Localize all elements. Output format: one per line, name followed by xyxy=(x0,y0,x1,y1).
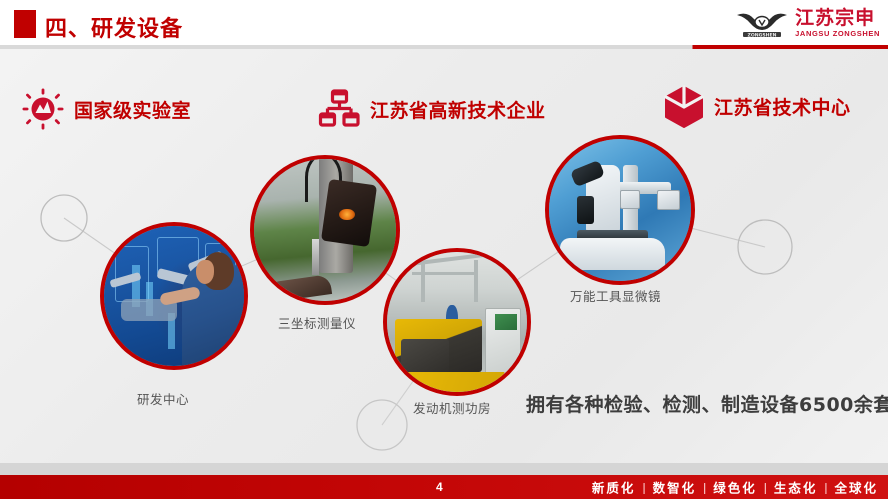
footer-top-divider xyxy=(0,463,888,475)
company-logo: ZONGSHEN 江苏宗申 JANGSU ZONGSHEN xyxy=(733,4,880,42)
footer-slogan: 新质化 xyxy=(592,478,636,497)
photo-caption: 三坐标测量仪 xyxy=(278,313,356,332)
footer-separator: | xyxy=(642,480,645,494)
photo-caption: 万能工具显微镜 xyxy=(570,286,661,305)
header-divider xyxy=(0,45,888,49)
slide-footer: 4 新质化 | 数智化 | 绿色化 | 生态化 | 全球化 xyxy=(0,475,888,499)
photo-circle-rd-center[interactable] xyxy=(100,222,248,370)
sun-burst-icon xyxy=(22,88,64,130)
footer-separator: | xyxy=(824,480,827,494)
footer-slogan: 全球化 xyxy=(834,478,878,497)
slide-header: 四、研发设备 ZONGSHEN 江苏宗申 JANGSU ZONGSHEN xyxy=(0,0,888,48)
page-title: 四、研发设备 xyxy=(45,11,183,43)
cube-icon xyxy=(662,85,704,127)
page-number: 4 xyxy=(436,480,443,494)
org-hierarchy-icon xyxy=(318,88,360,130)
category-label: 国家级实验室 xyxy=(74,96,191,123)
engine-dyno-room-photo xyxy=(387,252,527,392)
category-provincial-tech-center[interactable]: 江苏省技术中心 xyxy=(662,85,851,127)
cmm-probe-photo xyxy=(254,159,396,301)
footer-slogan-list: 新质化 | 数智化 | 绿色化 | 生态化 | 全球化 xyxy=(592,478,878,497)
rd-center-photo xyxy=(104,226,244,366)
footer-separator: | xyxy=(703,480,706,494)
footer-slogan: 绿色化 xyxy=(713,478,757,497)
logo-text-cn: 江苏宗申 xyxy=(795,9,875,28)
photo-circle-cmm[interactable] xyxy=(250,155,400,305)
footer-slogan: 数智化 xyxy=(653,478,697,497)
category-high-tech-enterprise[interactable]: 江苏省高新技术企业 xyxy=(318,88,546,130)
footer-separator: | xyxy=(764,480,767,494)
header-marker-square xyxy=(14,10,36,38)
highlight-statement: 拥有各种检验、检测、制造设备6500余套 xyxy=(526,390,888,417)
photo-caption: 发动机测功房 xyxy=(413,398,491,417)
logo-text-en: JANGSU ZONGSHEN xyxy=(795,30,880,38)
universal-tool-microscope-photo xyxy=(549,139,691,281)
footer-slogan: 生态化 xyxy=(774,478,818,497)
category-national-laboratory[interactable]: 国家级实验室 xyxy=(22,88,191,130)
photo-circle-engine-dyno[interactable] xyxy=(383,248,531,396)
eagle-wings-emblem-icon: ZONGSHEN xyxy=(733,6,791,40)
svg-text:ZONGSHEN: ZONGSHEN xyxy=(748,32,777,38)
photo-caption: 研发中心 xyxy=(137,389,189,408)
photo-circle-microscope[interactable] xyxy=(545,135,695,285)
category-label: 江苏省高新技术企业 xyxy=(370,96,546,123)
slide-canvas: 四、研发设备 ZONGSHEN 江苏宗申 JANGSU ZONGSHEN xyxy=(0,0,888,499)
category-label: 江苏省技术中心 xyxy=(714,93,851,120)
